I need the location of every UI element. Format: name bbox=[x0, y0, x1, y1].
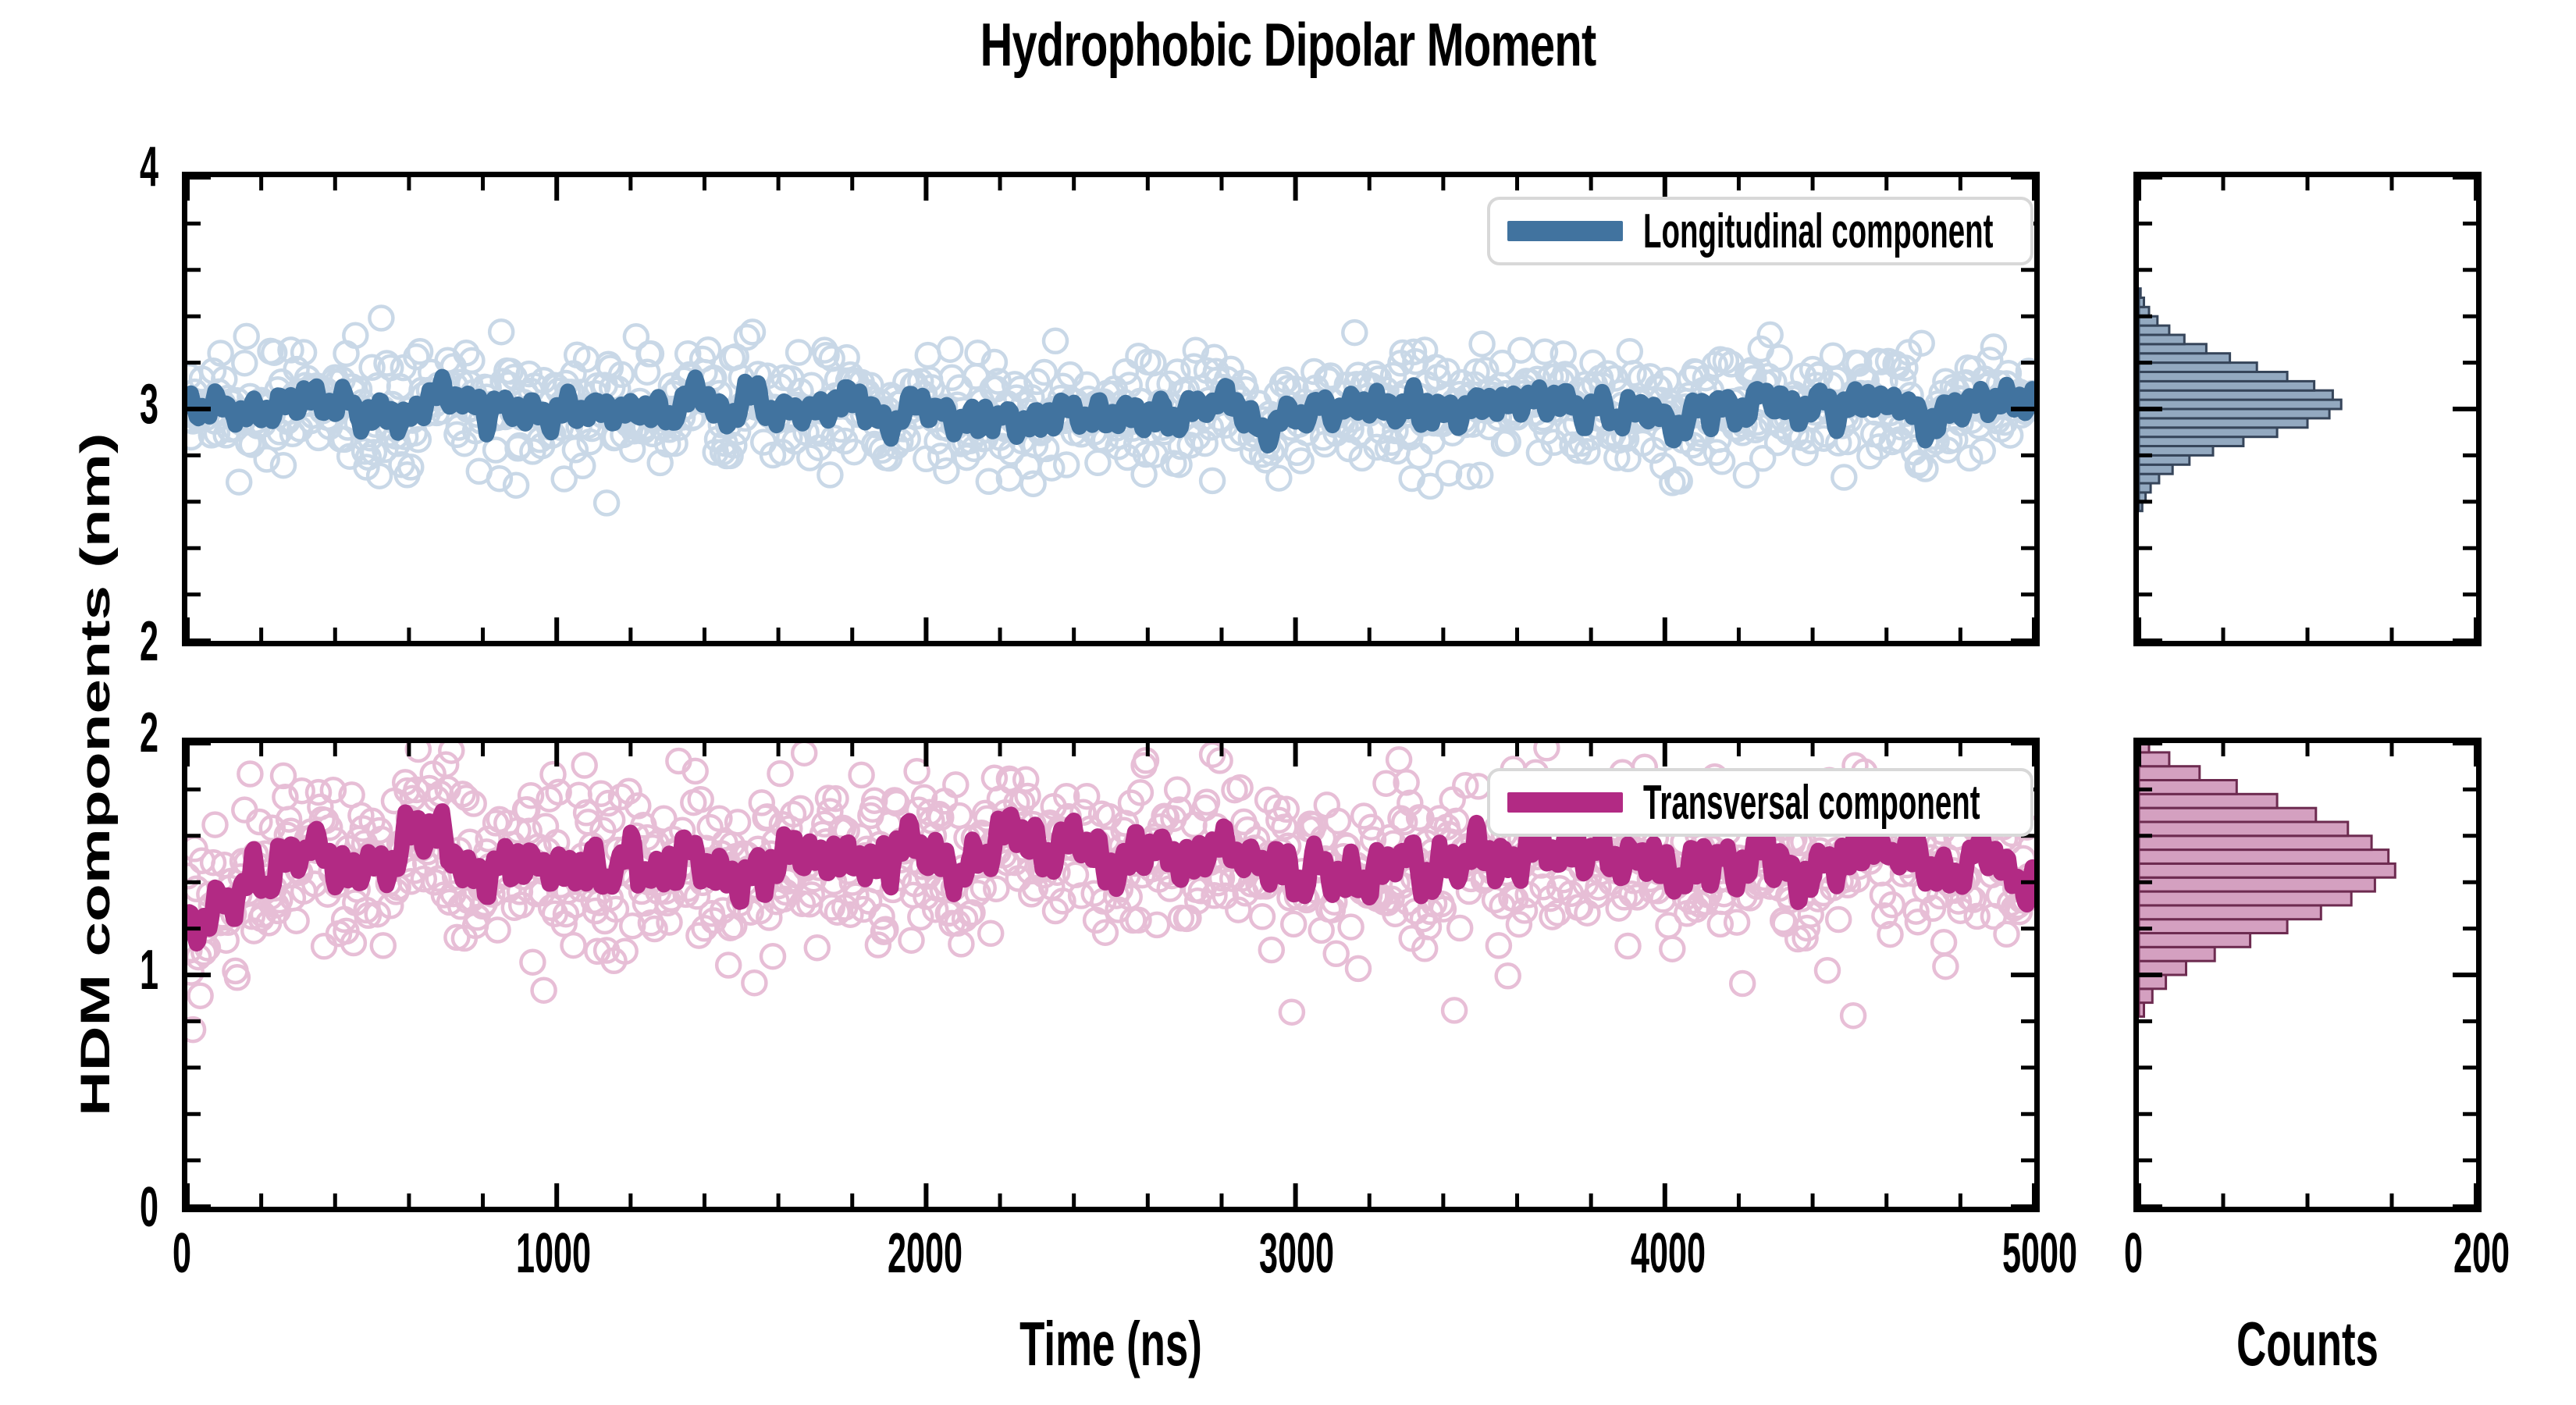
ytick-bot-2: 2 bbox=[140, 705, 158, 761]
histogram-transversal bbox=[2133, 738, 2482, 1212]
legend-swatch-transversal bbox=[1507, 792, 1623, 813]
legend-label-transversal: Transversal component bbox=[1643, 775, 1895, 831]
xtick-3000: 3000 bbox=[1240, 1225, 1353, 1282]
xtick-1000: 1000 bbox=[497, 1225, 610, 1282]
xaxis-label-counts: Counts bbox=[2101, 1313, 2514, 1375]
hist-xtick-0: 0 bbox=[2077, 1225, 2190, 1282]
ytick-top-2: 2 bbox=[140, 614, 158, 670]
legend-swatch-longitudinal bbox=[1507, 221, 1623, 241]
xtick-0: 0 bbox=[126, 1225, 238, 1282]
ytick-bot-1: 1 bbox=[140, 942, 158, 998]
legend-label-longitudinal: Longitudinal component bbox=[1643, 204, 1895, 259]
transversal-histogram-canvas bbox=[2139, 743, 2476, 1207]
legend-longitudinal[interactable]: Longitudinal component bbox=[1487, 197, 2033, 265]
longitudinal-histogram-canvas bbox=[2139, 177, 2476, 641]
page-title: Hydrophobic Dipolar Moment bbox=[335, 9, 2241, 80]
legend-transversal[interactable]: Transversal component bbox=[1487, 768, 2033, 837]
xaxis-label-time: Time (ns) bbox=[905, 1313, 1317, 1375]
xtick-2000: 2000 bbox=[869, 1225, 981, 1282]
yaxis-label-hdm: HDM components (nm) bbox=[75, 432, 116, 1116]
histogram-longitudinal bbox=[2133, 172, 2482, 646]
xtick-4000: 4000 bbox=[1612, 1225, 1724, 1282]
hist-xtick-200: 200 bbox=[2425, 1225, 2538, 1282]
ytick-top-4: 4 bbox=[140, 139, 158, 195]
ytick-top-3: 3 bbox=[140, 376, 158, 432]
